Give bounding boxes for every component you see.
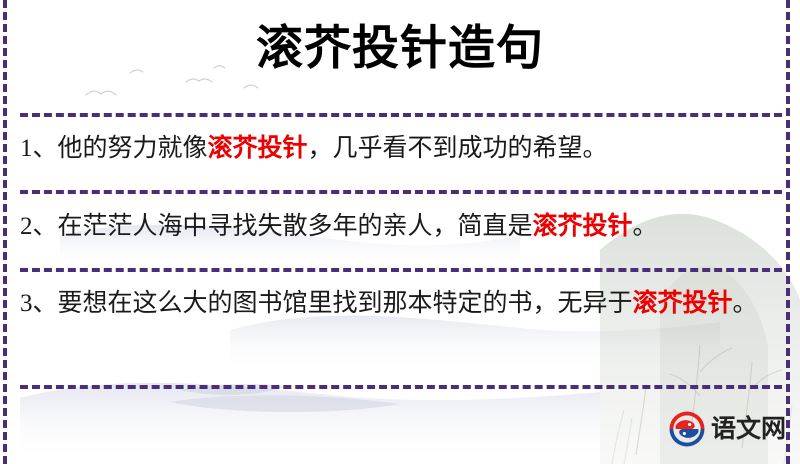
site-logo[interactable]: 语文网 xyxy=(668,410,786,448)
sentence-3-part-1: 要想在这么大的图书馆里找到那本特定的书，无异于 xyxy=(58,290,633,317)
yin-yang-fish-icon xyxy=(668,410,706,448)
sentence-2-part-3: 。 xyxy=(633,213,658,240)
sentence-2-keyword: 滚芥投针 xyxy=(533,213,633,240)
example-sentence-2: 2、在茫茫人海中寻找失散多年的亲人，简直是滚芥投针。 xyxy=(20,206,780,247)
sentence-1-keyword: 滚芥投针 xyxy=(208,135,308,162)
slide-page: 滚芥投针造句 1、他的努力就像滚芥投针，几乎看不到成功的希望。 2、在茫茫人海中… xyxy=(0,0,800,464)
sentence-3-part-3: 。 xyxy=(733,290,758,317)
divider-rule-1 xyxy=(20,113,782,117)
divider-rule-3 xyxy=(20,268,782,272)
sentence-1-part-3: ，几乎看不到成功的希望。 xyxy=(308,135,608,162)
sentence-2-index: 2、 xyxy=(20,213,58,240)
divider-rule-4 xyxy=(20,385,782,389)
example-sentence-3: 3、要想在这么大的图书馆里找到那本特定的书，无异于滚芥投针。 xyxy=(20,283,780,324)
divider-rule-2 xyxy=(20,190,782,194)
page-title: 滚芥投针造句 xyxy=(0,18,800,80)
sentence-3-keyword: 滚芥投针 xyxy=(633,290,733,317)
sentence-3-index: 3、 xyxy=(20,290,58,317)
site-logo-text: 语文网 xyxy=(711,417,786,442)
sentence-1-index: 1、 xyxy=(20,135,58,162)
sentence-1-part-1: 他的努力就像 xyxy=(58,135,208,162)
example-sentence-1: 1、他的努力就像滚芥投针，几乎看不到成功的希望。 xyxy=(20,128,780,169)
sentence-2-part-1: 在茫茫人海中寻找失散多年的亲人，简直是 xyxy=(58,213,533,240)
